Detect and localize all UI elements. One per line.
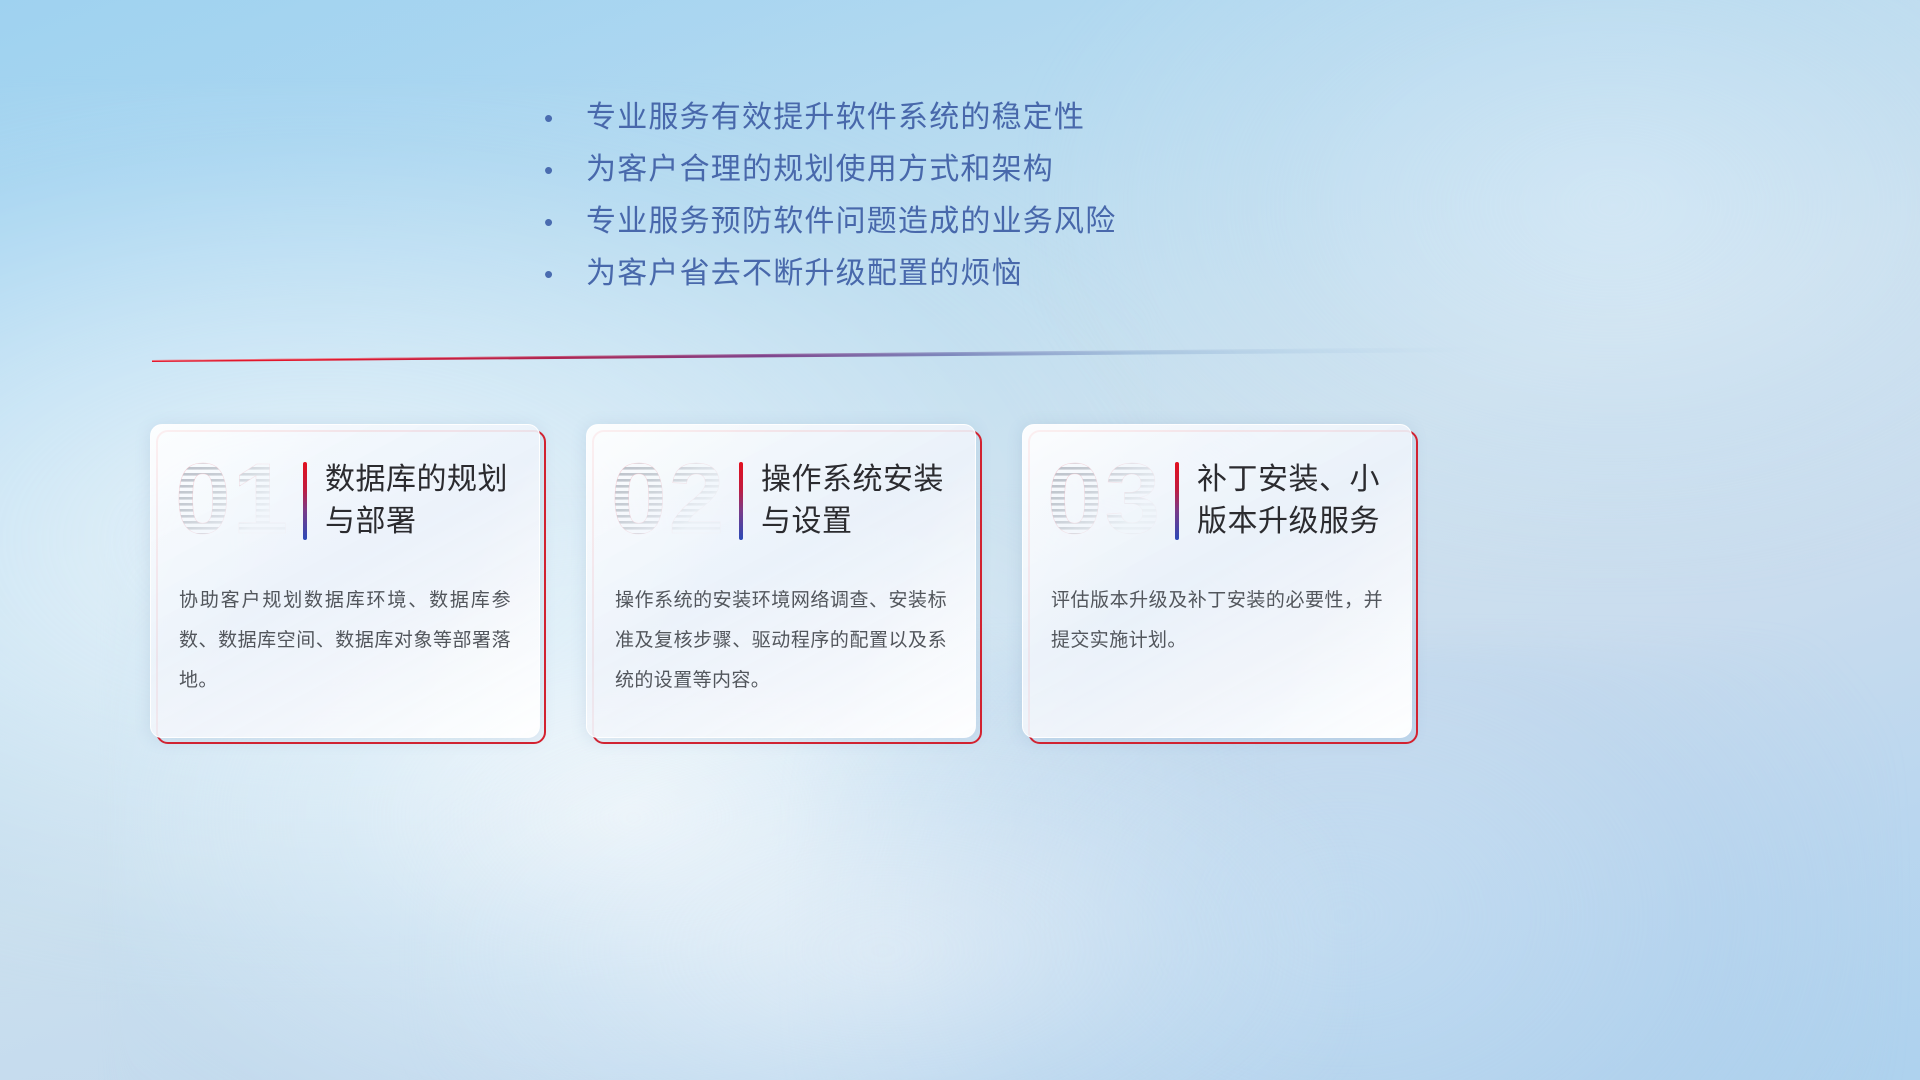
service-card[interactable]: 01 01 数据库的规划 与部署 协助客户规划数据库环境、数据库参数、数据库空间… <box>150 424 540 738</box>
bullet-item: • 专业服务预防软件问题造成的业务风险 <box>540 196 1360 248</box>
bullet-dot-icon: • <box>540 144 586 196</box>
card-header: 02 02 操作系统安装 与设置 <box>587 425 975 577</box>
card-title: 补丁安装、小 版本升级服务 <box>1197 459 1389 543</box>
bullet-dot-icon: • <box>540 196 586 248</box>
benefits-bullet-list: • 专业服务有效提升软件系统的稳定性 • 为客户合理的规划使用方式和架构 • 专… <box>540 92 1360 300</box>
card-number-striped-icon: 03 03 <box>1047 449 1169 553</box>
card-description: 评估版本升级及补丁安装的必要性，并提交实施计划。 <box>1023 577 1411 661</box>
service-card[interactable]: 03 03 补丁安装、小 版本升级服务 评估版本升级及补丁安装的必要性，并提交实… <box>1022 424 1412 738</box>
bullet-item: • 专业服务有效提升软件系统的稳定性 <box>540 92 1360 144</box>
service-card-row: 01 01 数据库的规划 与部署 协助客户规划数据库环境、数据库参数、数据库空间… <box>150 424 1780 738</box>
slide-canvas: • 专业服务有效提升软件系统的稳定性 • 为客户合理的规划使用方式和架构 • 专… <box>0 0 1920 1080</box>
svg-text:02: 02 <box>611 449 726 553</box>
card-title: 操作系统安装 与设置 <box>761 459 953 543</box>
card-accent-bar <box>1175 462 1179 540</box>
card-description: 协助客户规划数据库环境、数据库参数、数据库空间、数据库对象等部署落地。 <box>151 577 539 701</box>
bullet-dot-icon: • <box>540 92 586 144</box>
bullet-item-label: 专业服务有效提升软件系统的稳定性 <box>586 92 1085 144</box>
card-accent-bar <box>303 462 307 540</box>
bullet-item-label: 为客户省去不断升级配置的烦恼 <box>586 248 1023 300</box>
card-number-striped-icon: 02 02 <box>611 449 733 553</box>
card-accent-bar <box>739 462 743 540</box>
service-card[interactable]: 02 02 操作系统安装 与设置 操作系统的安装环境网络调查、安装标准及复核步骤… <box>586 424 976 738</box>
bullet-item-label: 为客户合理的规划使用方式和架构 <box>586 144 1054 196</box>
bullet-dot-icon: • <box>540 248 586 300</box>
card-surface: 02 02 操作系统安装 与设置 操作系统的安装环境网络调查、安装标准及复核步骤… <box>586 424 976 738</box>
bullet-item: • 为客户省去不断升级配置的烦恼 <box>540 248 1360 300</box>
svg-text:01: 01 <box>175 449 290 553</box>
card-header: 03 03 补丁安装、小 版本升级服务 <box>1023 425 1411 577</box>
bullet-item: • 为客户合理的规划使用方式和架构 <box>540 144 1360 196</box>
card-surface: 03 03 补丁安装、小 版本升级服务 评估版本升级及补丁安装的必要性，并提交实… <box>1022 424 1412 738</box>
card-title: 数据库的规划 与部署 <box>325 459 517 543</box>
bullet-item-label: 专业服务预防软件问题造成的业务风险 <box>586 196 1116 248</box>
svg-text:03: 03 <box>1047 449 1162 553</box>
card-number-striped-icon: 01 01 <box>175 449 297 553</box>
card-surface: 01 01 数据库的规划 与部署 协助客户规划数据库环境、数据库参数、数据库空间… <box>150 424 540 738</box>
card-description: 操作系统的安装环境网络调查、安装标准及复核步骤、驱动程序的配置以及系统的设置等内… <box>587 577 975 701</box>
card-header: 01 01 数据库的规划 与部署 <box>151 425 539 577</box>
